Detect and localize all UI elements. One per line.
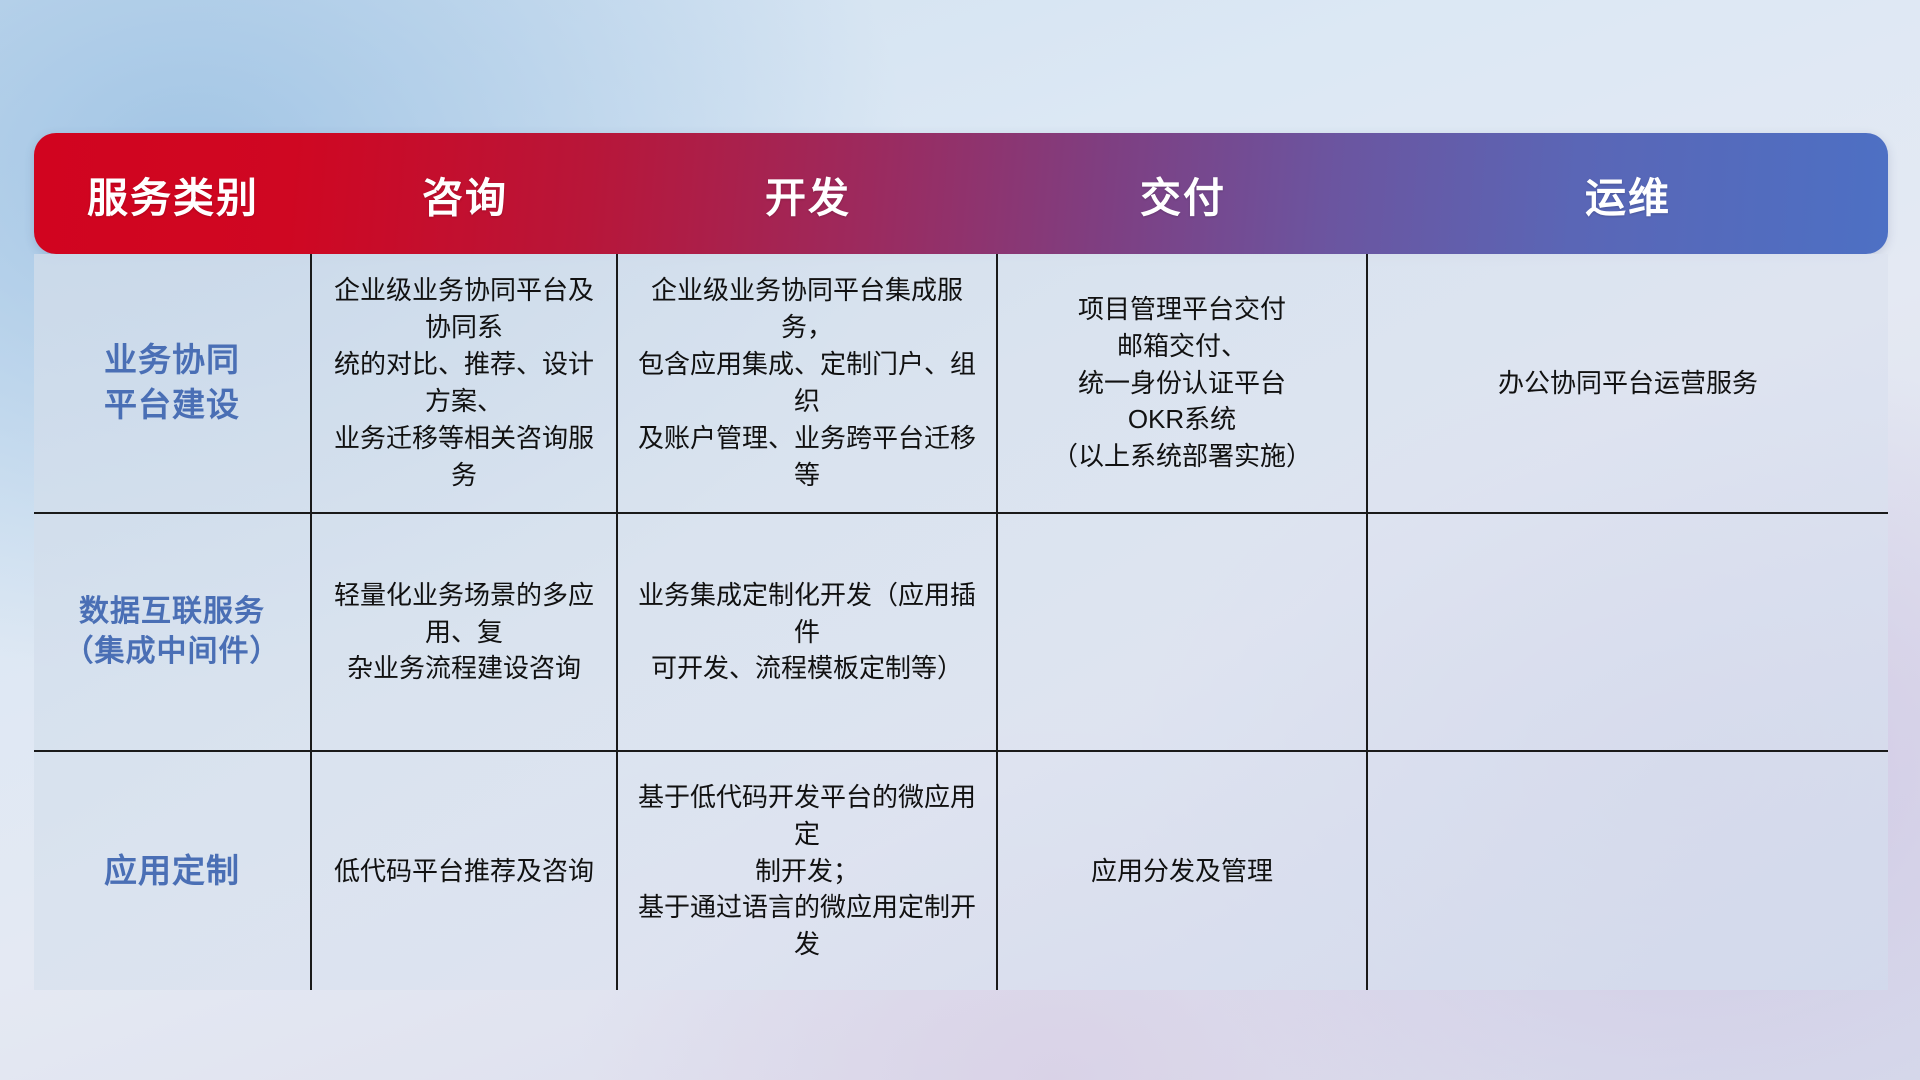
column-header-category: 服务类别 [34,133,312,254]
row-label-app-customization: 应用定制 [34,752,312,990]
cell-consulting-row1: 企业级业务协同平台及协同系 统的对比、推荐、设计方案、 业务迁移等相关咨询服务 [312,254,618,512]
row-label-business-collaboration: 业务协同 平台建设 [34,254,312,512]
table-body: 业务协同 平台建设 企业级业务协同平台及协同系 统的对比、推荐、设计方案、 业务… [34,254,1888,990]
cell-operations-row3 [1368,752,1888,990]
table-header-row: 服务类别 咨询 开发 交付 运维 [34,133,1888,254]
column-header-consulting: 咨询 [312,133,618,254]
service-matrix-table: 服务类别 咨询 开发 交付 运维 业务协同 平台建设 企业级业务协同平台及协同系… [34,133,1888,953]
cell-delivery-row1: 项目管理平台交付 邮箱交付、 统一身份认证平台 OKR系统 （以上系统部署实施） [998,254,1368,512]
table-row: 数据互联服务 （集成中间件） 轻量化业务场景的多应用、复 杂业务流程建设咨询 业… [34,512,1888,750]
column-header-development: 开发 [618,133,998,254]
row-label-data-interconnect: 数据互联服务 （集成中间件） [34,514,312,750]
cell-development-row1: 企业级业务协同平台集成服务， 包含应用集成、定制门户、组织 及账户管理、业务跨平… [618,254,998,512]
cell-development-row2: 业务集成定制化开发（应用插件 可开发、流程模板定制等） [618,514,998,750]
table-row: 应用定制 低代码平台推荐及咨询 基于低代码开发平台的微应用定 制开发； 基于通过… [34,750,1888,990]
cell-delivery-row2 [998,514,1368,750]
cell-development-row3: 基于低代码开发平台的微应用定 制开发； 基于通过语言的微应用定制开发 [618,752,998,990]
cell-operations-row1: 办公协同平台运营服务 [1368,254,1888,512]
slide-canvas: 服务类别 咨询 开发 交付 运维 业务协同 平台建设 企业级业务协同平台及协同系… [0,0,1920,1080]
cell-consulting-row3: 低代码平台推荐及咨询 [312,752,618,990]
cell-consulting-row2: 轻量化业务场景的多应用、复 杂业务流程建设咨询 [312,514,618,750]
table-row: 业务协同 平台建设 企业级业务协同平台及协同系 统的对比、推荐、设计方案、 业务… [34,254,1888,512]
column-header-operations: 运维 [1368,133,1888,254]
column-header-delivery: 交付 [998,133,1368,254]
cell-operations-row2 [1368,514,1888,750]
cell-delivery-row3: 应用分发及管理 [998,752,1368,990]
